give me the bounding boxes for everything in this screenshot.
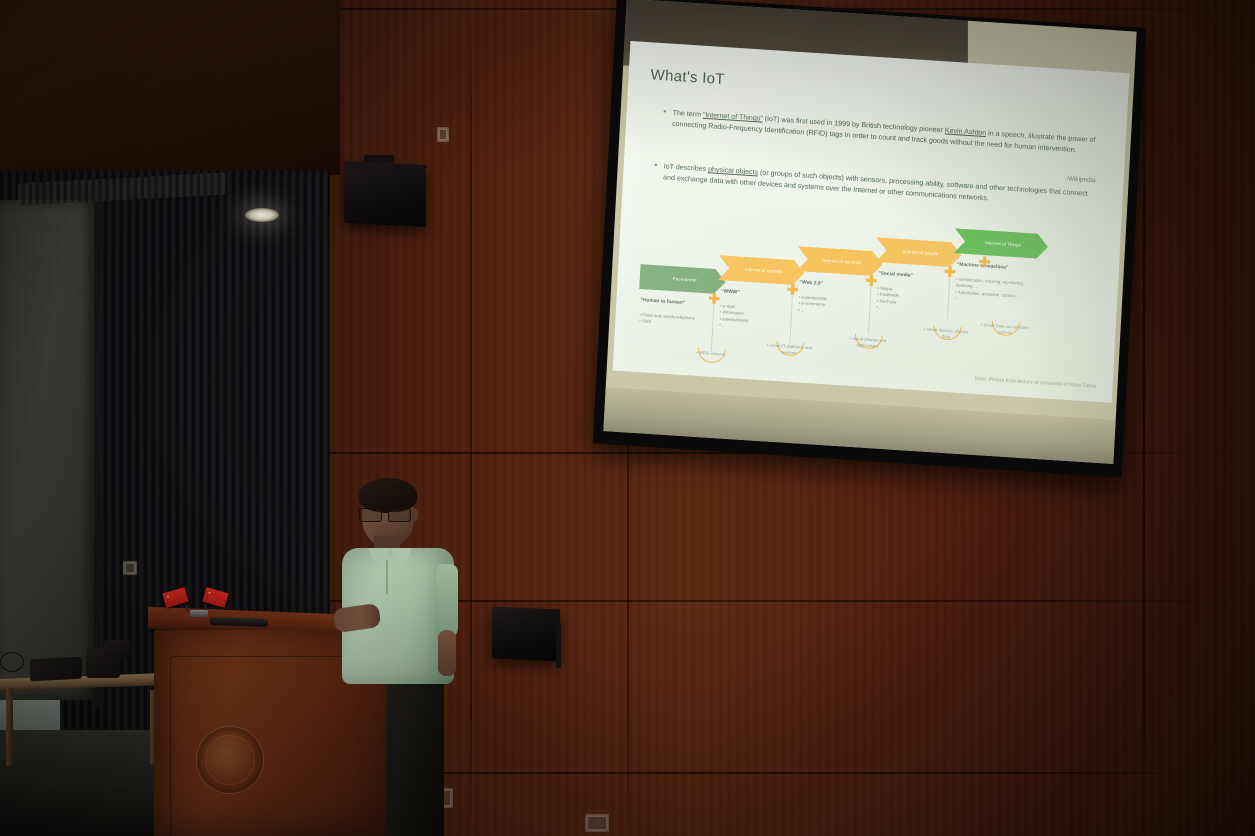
era-items-0: • Fixed and mobile telephony• SMS [639,312,702,329]
flag-star-icon [208,591,212,595]
flag-star-icon [166,595,170,599]
bullet-marker [655,164,658,167]
podium-emblem [196,726,264,794]
slide: What's IoT The term “Internet of Things”… [613,41,1130,403]
timeline-node-icon-0 [708,293,720,305]
flag-base [190,610,208,617]
presenter-hair [359,478,417,512]
timeline-stem [711,304,715,352]
ceiling [0,0,340,175]
curtain-frame [94,196,99,706]
timeline-stem [789,295,793,343]
timeline-node-icon-3 [944,266,956,278]
era-items-2: • e-productivity• e-commerce• ... [798,294,861,317]
timeline-stage-4: Internet of Things [953,228,1048,259]
ceiling-downlight-icon [245,208,279,222]
lecture-hall-scene: What's IoT The term “Internet of Things”… [0,0,1255,836]
slide-bullet-2-text: IoT describes physical objects (or group… [663,162,1088,202]
curtain [0,200,96,700]
era-label-0: “Human to human” [640,298,685,306]
shirt-sleeve [436,564,458,638]
slide-title: What's IoT [650,66,725,88]
slide-bullet-1-text: The term “Internet of Things” (IoT) was … [672,109,1096,154]
chinese-flags [172,588,226,618]
node-caption-4: + smart Data and ambient context [978,322,1031,338]
term-physical-objects: physical objects [708,165,758,176]
table-leg [6,688,13,766]
presenter-right-arm [438,630,456,676]
iot-evolution-timeline: Pre-internet Internet of content Interne… [633,194,1101,393]
timeline-node-icon-2 [866,275,878,287]
era-label-1: “WWW” [721,289,740,295]
era-label-3: “Social media” [878,271,913,278]
wall-vertical-seam [470,0,472,836]
glasses-bridge [380,512,388,513]
wall-switch[interactable] [123,561,137,575]
shirt-placket [386,560,388,594]
timeline-stage-1: Internet of content [718,255,805,286]
timeline-stage-2: Internet of services [796,246,883,277]
speaker-bracket [556,624,561,668]
era-items-3: • Skype• Facebook• YouTube• ... [876,285,939,315]
era-items-1: • e-mail• information• entertainment• ..… [719,303,782,333]
glasses-icon [359,508,415,520]
speaker-bracket [364,155,394,163]
timeline-stem [947,277,950,319]
wall-speaker-left [344,161,426,227]
wall-vertical-seam [1143,0,1145,836]
timeline-stem [868,286,872,334]
era-items-4: • Identification, tracking, monitoring, … [955,276,1030,306]
glasses-lens [359,508,382,522]
timeline-node-icon-1 [787,284,799,296]
node-caption-3: + smart devices, objects, data [920,326,973,342]
projection-screen: What's IoT The term “Internet of Things”… [593,0,1146,478]
node-caption-2: + smart phones and applications [841,335,894,351]
era-label-2: “Web 2.0” [800,280,824,286]
bullet-marker [664,110,667,113]
wall-speaker-right [492,607,560,662]
presenter-trousers [386,676,444,836]
glasses-lens [388,508,411,522]
timeline-stage-3: Internet of people [875,237,962,268]
node-caption-1: + smart IT platforms and services [763,342,816,358]
slide-attribution: -Wikipedia [1066,175,1096,184]
equipment-device [104,640,130,658]
presenter [330,478,470,836]
era-label-4: “Machine to machine” [957,262,1009,270]
coiled-cable [0,652,24,672]
power-outlet[interactable] [585,814,609,832]
slide-bullet-1: The term “Internet of Things” (IoT) was … [672,108,1097,157]
equipment-bag [30,657,82,682]
screen-surface: What's IoT The term “Internet of Things”… [603,0,1136,464]
timeline-stage-0: Pre-internet [639,264,726,295]
wall-sensor [437,127,449,142]
term-kevin-ashton: Kevin Ashton [945,126,987,137]
term-internet-of-things: “Internet of Things” [703,111,763,123]
